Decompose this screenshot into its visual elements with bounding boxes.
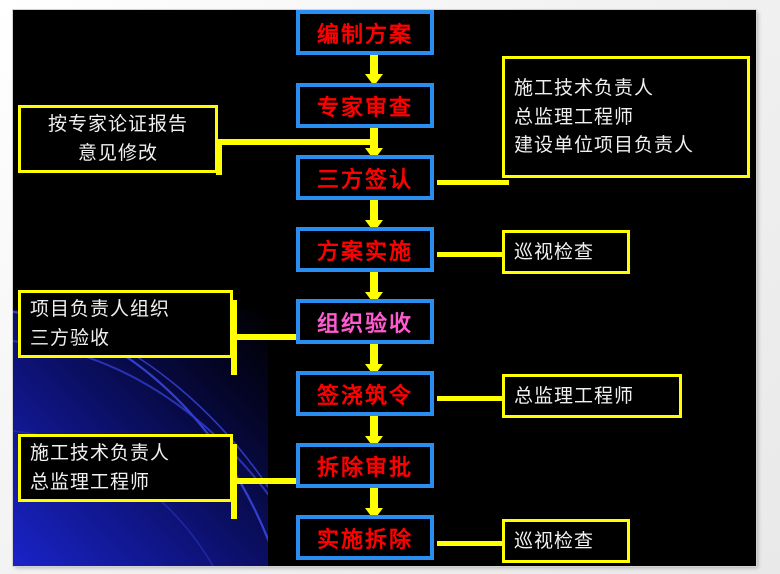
annotation-note-acceptance[interactable]: 项目负责人组织 三方验收 (18, 290, 233, 358)
process-label-step-5: 组织验收 (300, 303, 430, 340)
annotation-line: 总监理工程师 (514, 382, 634, 411)
process-label-step-8: 实施拆除 (300, 519, 430, 556)
annotation-line: 项目负责人组织 (30, 295, 170, 324)
process-box-step-4[interactable]: 方案实施 (296, 227, 434, 272)
annotation-note-demolition-approval[interactable]: 施工技术负责人 总监理工程师 (18, 434, 233, 502)
annotation-note-revise[interactable]: 按专家论证报告 意见修改 (18, 105, 218, 173)
process-box-step-5[interactable]: 组织验收 (296, 299, 434, 344)
annotation-line: 总监理工程师 (514, 103, 634, 132)
annotation-line: 总监理工程师 (30, 468, 150, 497)
screenshot-stage: 编制方案 专家审查 三方签认 方案实施 组织验收 签浇筑令 拆除审批 实施拆除 … (0, 0, 780, 574)
process-box-step-1[interactable]: 编制方案 (296, 10, 434, 55)
annotation-note-inspection-1[interactable]: 巡视检查 (502, 230, 630, 274)
process-box-step-3[interactable]: 三方签认 (296, 155, 434, 200)
annotation-line: 巡视检查 (514, 527, 594, 556)
annotation-line: 按专家论证报告 (48, 110, 188, 139)
process-box-step-2[interactable]: 专家审查 (296, 83, 434, 128)
annotation-line: 施工技术负责人 (514, 74, 654, 103)
annotation-line: 三方验收 (30, 324, 110, 353)
process-label-step-3: 三方签认 (300, 159, 430, 196)
process-label-step-1: 编制方案 (300, 14, 430, 51)
annotation-line: 巡视检查 (514, 238, 594, 267)
connector-note-chief-supervisor (437, 396, 503, 401)
process-box-step-6[interactable]: 签浇筑令 (296, 371, 434, 416)
annotation-note-inspection-2[interactable]: 巡视检查 (502, 519, 630, 563)
annotation-note-signatories[interactable]: 施工技术负责人 总监理工程师 建设单位项目负责人 (502, 56, 750, 178)
process-label-step-7: 拆除审批 (300, 447, 430, 484)
connector-note-signatories (437, 180, 509, 185)
annotation-line: 建设单位项目负责人 (514, 131, 694, 160)
connector-note-revise (216, 139, 376, 145)
connector-note-inspection-1 (437, 252, 503, 257)
process-box-step-7[interactable]: 拆除审批 (296, 443, 434, 488)
process-box-step-8[interactable]: 实施拆除 (296, 515, 434, 560)
slide-canvas: 编制方案 专家审查 三方签认 方案实施 组织验收 签浇筑令 拆除审批 实施拆除 … (13, 10, 756, 566)
process-label-step-4: 方案实施 (300, 231, 430, 268)
process-label-step-2: 专家审查 (300, 87, 430, 124)
annotation-note-chief-supervisor[interactable]: 总监理工程师 (502, 374, 682, 418)
annotation-line: 意见修改 (78, 139, 158, 168)
process-label-step-6: 签浇筑令 (300, 375, 430, 412)
annotation-line: 施工技术负责人 (30, 439, 170, 468)
connector-note-inspection-2 (437, 541, 503, 546)
